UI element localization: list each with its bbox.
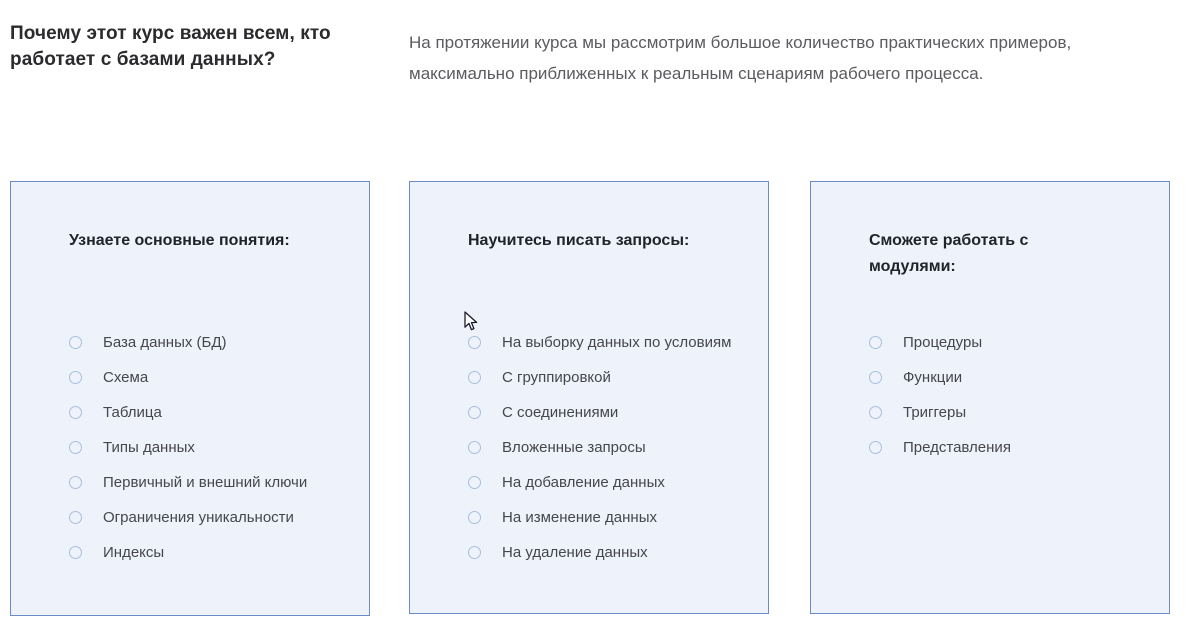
list-item[interactable]: Триггеры bbox=[869, 402, 1159, 424]
list-item-label: С соединениями bbox=[502, 404, 618, 421]
radio-circle-icon bbox=[869, 406, 882, 419]
radio-circle-icon bbox=[468, 371, 481, 384]
card-item-list: На выборку данных по условиям С группиро… bbox=[468, 332, 758, 564]
benefit-card-modules: Сможете работать с модулями: Процедуры Ф… bbox=[810, 181, 1170, 614]
benefit-cards-row: Узнаете основные понятия: База данных (Б… bbox=[0, 181, 1202, 631]
list-item-label: Таблица bbox=[103, 404, 162, 421]
list-item[interactable]: Процедуры bbox=[869, 332, 1159, 354]
intro-section: Почему этот курс важен всем, кто работае… bbox=[0, 0, 1202, 160]
card-title: Узнаете основные понятия: bbox=[69, 228, 319, 254]
list-item-label: Индексы bbox=[103, 544, 164, 561]
list-item-label: На выборку данных по условиям bbox=[502, 334, 731, 351]
card-item-list: Процедуры Функции Триггеры Представления bbox=[869, 332, 1159, 459]
radio-circle-icon bbox=[869, 371, 882, 384]
intro-description: На протяжении курса мы рассмотрим большо… bbox=[409, 27, 1139, 89]
list-item-label: Первичный и внешний ключи bbox=[103, 474, 307, 491]
list-item[interactable]: С соединениями bbox=[468, 402, 758, 424]
list-item[interactable]: Вложенные запросы bbox=[468, 437, 758, 459]
list-item[interactable]: Первичный и внешний ключи bbox=[69, 472, 359, 494]
list-item-label: На добавление данных bbox=[502, 474, 665, 491]
list-item-label: С группировкой bbox=[502, 369, 611, 386]
radio-circle-icon bbox=[69, 546, 82, 559]
benefit-card-queries: Научитесь писать запросы: На выборку дан… bbox=[409, 181, 769, 614]
list-item-label: На изменение данных bbox=[502, 509, 657, 526]
benefit-card-concepts: Узнаете основные понятия: База данных (Б… bbox=[10, 181, 370, 616]
list-item[interactable]: Представления bbox=[869, 437, 1159, 459]
radio-circle-icon bbox=[468, 406, 481, 419]
radio-circle-icon bbox=[468, 511, 481, 524]
list-item-label: Процедуры bbox=[903, 334, 982, 351]
list-item[interactable]: На выборку данных по условиям bbox=[468, 332, 758, 354]
list-item-label: Функции bbox=[903, 369, 962, 386]
radio-circle-icon bbox=[468, 441, 481, 454]
list-item-label: Вложенные запросы bbox=[502, 439, 646, 456]
list-item-label: Схема bbox=[103, 369, 148, 386]
radio-circle-icon bbox=[69, 476, 82, 489]
list-item-label: Типы данных bbox=[103, 439, 195, 456]
list-item-label: Ограничения уникальности bbox=[103, 509, 294, 526]
radio-circle-icon bbox=[869, 441, 882, 454]
list-item-label: На удаление данных bbox=[502, 544, 648, 561]
card-title: Научитесь писать запросы: bbox=[468, 228, 718, 254]
page-title: Почему этот курс важен всем, кто работае… bbox=[10, 21, 340, 73]
list-item[interactable]: На изменение данных bbox=[468, 507, 758, 529]
radio-circle-icon bbox=[468, 546, 481, 559]
list-item[interactable]: База данных (БД) bbox=[69, 332, 359, 354]
card-item-list: База данных (БД) Схема Таблица Типы данн… bbox=[69, 332, 359, 564]
list-item-label: Триггеры bbox=[903, 404, 966, 421]
radio-circle-icon bbox=[869, 336, 882, 349]
list-item[interactable]: Ограничения уникальности bbox=[69, 507, 359, 529]
list-item[interactable]: С группировкой bbox=[468, 367, 758, 389]
radio-circle-icon bbox=[69, 336, 82, 349]
list-item[interactable]: Индексы bbox=[69, 542, 359, 564]
list-item[interactable]: На добавление данных bbox=[468, 472, 758, 494]
radio-circle-icon bbox=[69, 371, 82, 384]
list-item[interactable]: Схема bbox=[69, 367, 359, 389]
list-item[interactable]: Типы данных bbox=[69, 437, 359, 459]
radio-circle-icon bbox=[69, 406, 82, 419]
radio-circle-icon bbox=[69, 511, 82, 524]
radio-circle-icon bbox=[69, 441, 82, 454]
list-item[interactable]: Таблица bbox=[69, 402, 359, 424]
list-item[interactable]: На удаление данных bbox=[468, 542, 758, 564]
radio-circle-icon bbox=[468, 336, 481, 349]
list-item-label: Представления bbox=[903, 439, 1011, 456]
list-item-label: База данных (БД) bbox=[103, 334, 227, 351]
radio-circle-icon bbox=[468, 476, 481, 489]
list-item[interactable]: Функции bbox=[869, 367, 1159, 389]
card-title: Сможете работать с модулями: bbox=[869, 228, 1119, 280]
